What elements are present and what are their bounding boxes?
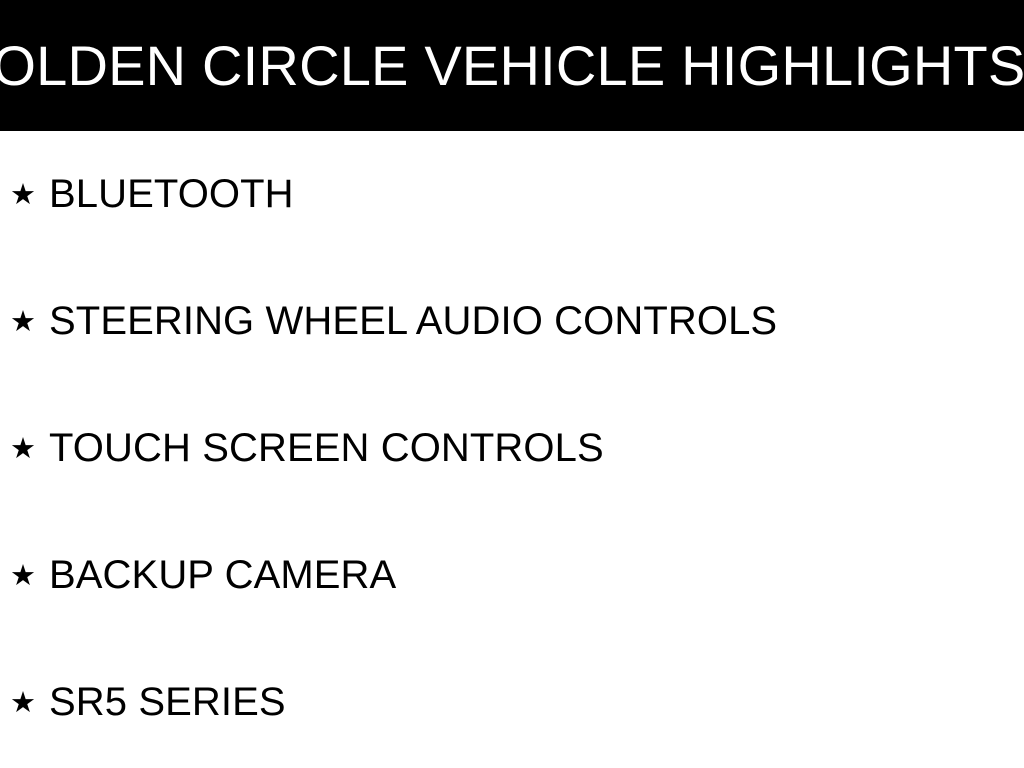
list-item-label: STEERING WHEEL AUDIO CONTROLS bbox=[49, 301, 777, 341]
star-bullet-icon: ★ bbox=[10, 180, 49, 209]
list-item: ★ STEERING WHEEL AUDIO CONTROLS bbox=[0, 293, 1024, 349]
slide-canvas: GOLDEN CIRCLE VEHICLE HIGHLIGHTS ★ BLUET… bbox=[0, 0, 1024, 768]
list-item-label: BACKUP CAMERA bbox=[49, 555, 396, 595]
list-item-label: TOUCH SCREEN CONTROLS bbox=[49, 428, 604, 468]
vehicle-highlights-list: ★ BLUETOOTH ★ STEERING WHEEL AUDIO CONTR… bbox=[0, 131, 1024, 768]
star-bullet-icon: ★ bbox=[10, 561, 49, 590]
list-item: ★ TOUCH SCREEN CONTROLS bbox=[0, 420, 1024, 476]
star-bullet-icon: ★ bbox=[10, 688, 49, 717]
list-item-label: BLUETOOTH bbox=[49, 174, 294, 214]
page-title: GOLDEN CIRCLE VEHICLE HIGHLIGHTS bbox=[0, 0, 1024, 131]
list-item: ★ SR5 SERIES bbox=[0, 674, 1024, 730]
list-item: ★ BLUETOOTH bbox=[0, 166, 1024, 222]
title-band: GOLDEN CIRCLE VEHICLE HIGHLIGHTS bbox=[0, 0, 1024, 131]
list-item: ★ BACKUP CAMERA bbox=[0, 547, 1024, 603]
star-bullet-icon: ★ bbox=[10, 307, 49, 336]
list-item-label: SR5 SERIES bbox=[49, 682, 286, 722]
star-bullet-icon: ★ bbox=[10, 434, 49, 463]
